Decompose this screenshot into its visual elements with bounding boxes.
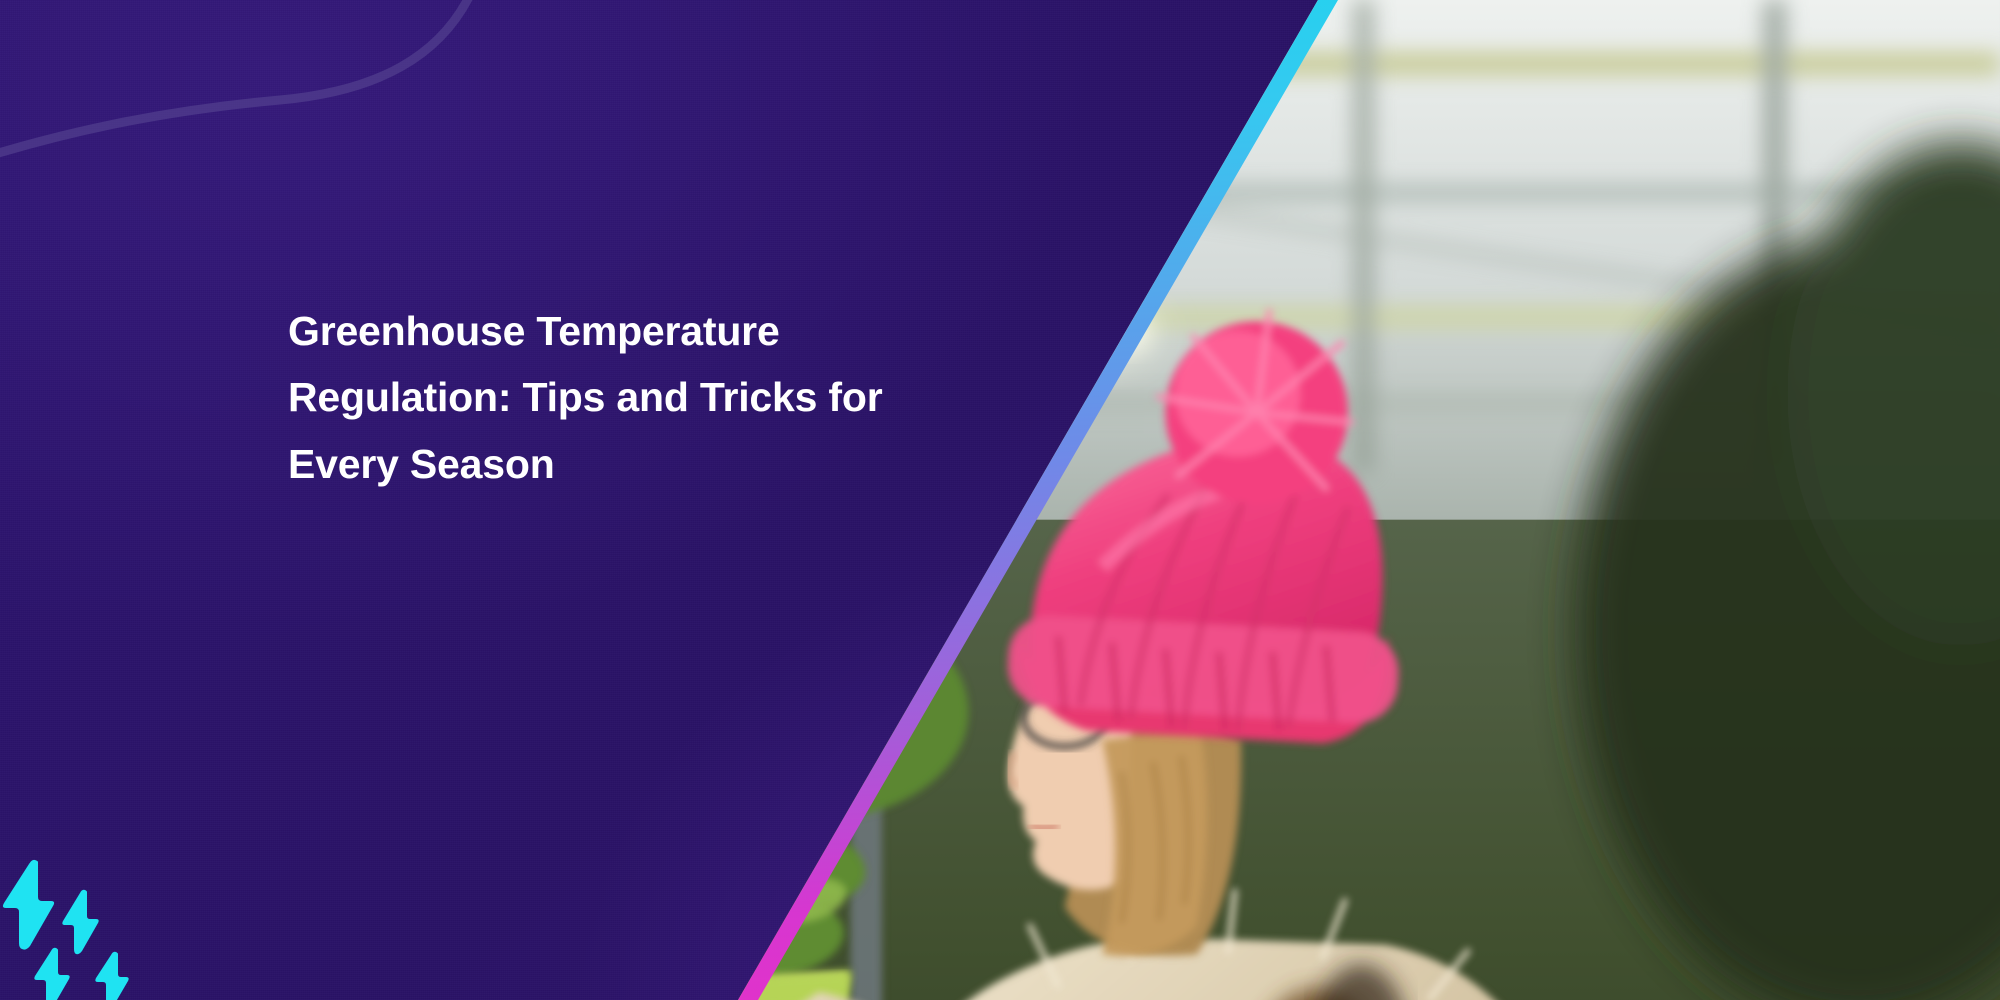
banner-title: Greenhouse Temperature Regulation: Tips … [288,298,928,497]
lightning-bolt-cluster-icon [0,850,130,1000]
article-hero-banner: Greenhouse Temperature Regulation: Tips … [0,0,2000,1000]
title-block: Greenhouse Temperature Regulation: Tips … [288,298,928,497]
curved-line-decoration [0,0,530,190]
